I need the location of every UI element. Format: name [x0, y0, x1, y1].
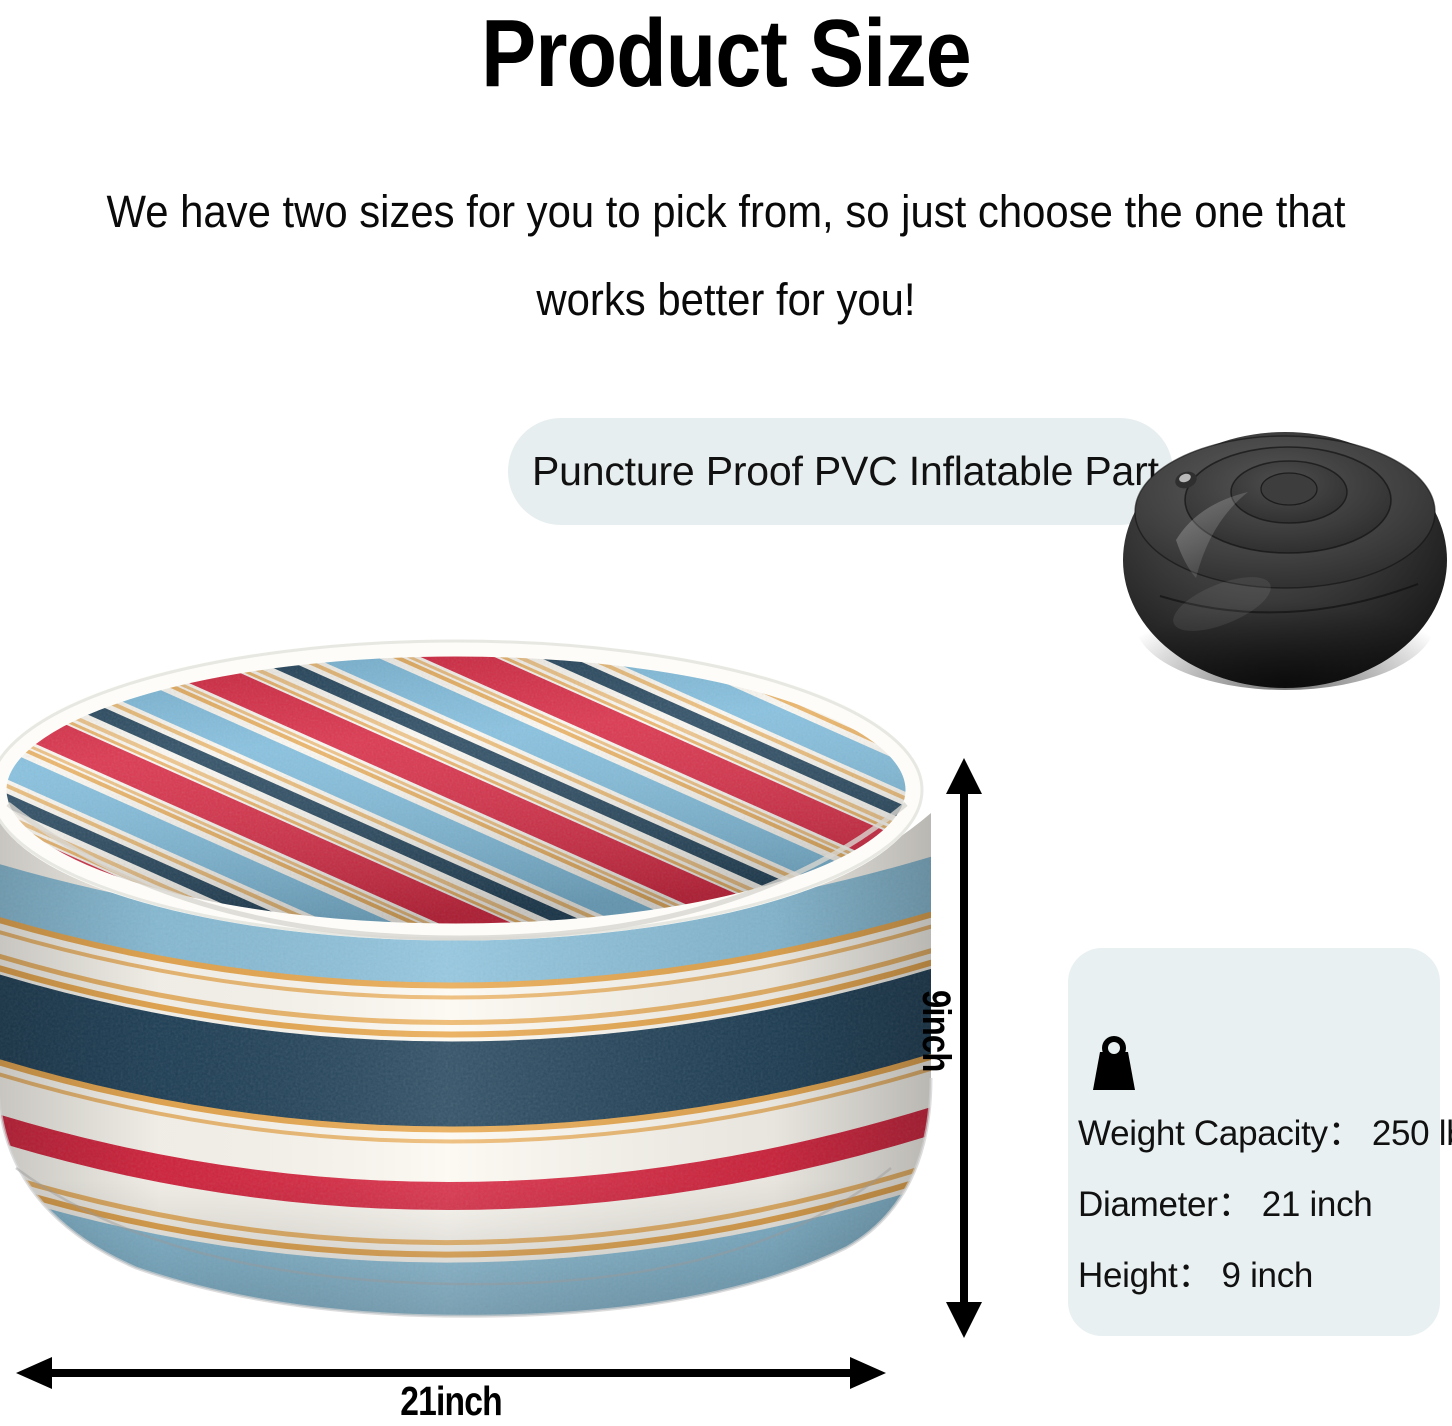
height-dimension-label: 9inch: [913, 990, 958, 1072]
spec-row-weight-capacity: Weight Capacity： 250 lbs: [1078, 1116, 1438, 1151]
spec-row-height: Height： 9 inch: [1078, 1258, 1438, 1293]
width-dimension-label: 21inch: [94, 1378, 807, 1425]
weight-icon: [1081, 1030, 1147, 1096]
spec-row-diameter: Diameter： 21 inch: [1078, 1187, 1438, 1222]
page-title: Product Size: [102, 2, 1351, 106]
callout-badge: Puncture Proof PVC Inflatable Part: [508, 418, 1173, 525]
spec-list: Weight Capacity： 250 lbs Diameter： 21 in…: [1078, 1116, 1438, 1329]
inflatable-part-image: [1118, 372, 1452, 692]
product-size-infographic: Product Size We have two sizes for you t…: [0, 0, 1452, 1426]
callout-badge-label: Puncture Proof PVC Inflatable Part: [532, 418, 1143, 525]
product-image-ottoman: [0, 608, 946, 1318]
page-subtitle: We have two sizes for you to pick from, …: [88, 168, 1364, 344]
